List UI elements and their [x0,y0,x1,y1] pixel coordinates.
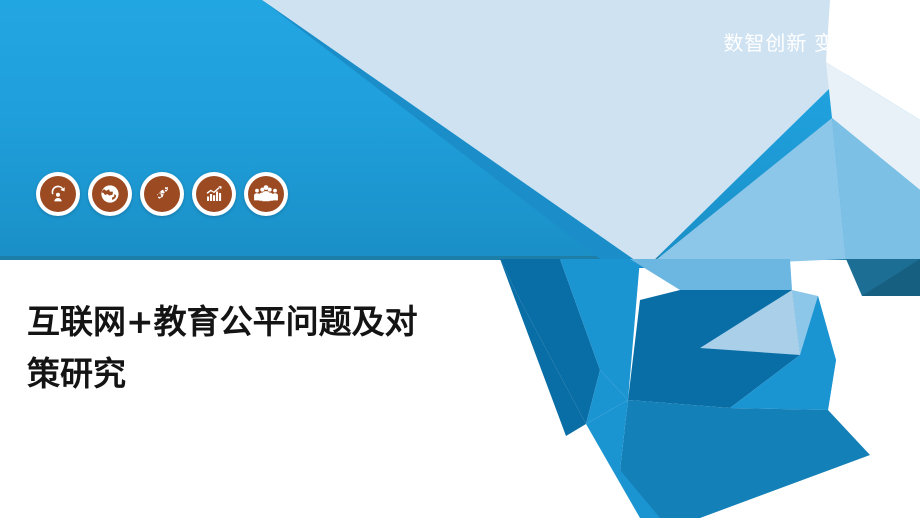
polygon-bottom-blade [620,400,870,518]
icon-badge-people-group[interactable] [244,172,288,216]
icon-badge-gears[interactable] [140,172,184,216]
bar-chart-icon [196,176,232,212]
people-group-icon [248,176,284,212]
polygon-artwork [0,0,920,518]
icon-row [36,172,288,216]
icon-badge-refresh-person[interactable] [36,172,80,216]
globe-icon [92,176,128,212]
polygon-lower-mid-top [630,259,792,290]
refresh-person-icon [40,176,76,212]
page-title-line-1: 互联网+教育公平问题及对 [27,296,527,348]
tagline-text: 数智创新 变革未来 [723,27,898,56]
slide-canvas: 数智创新 变革未来 [0,0,920,518]
icon-badge-bar-chart[interactable] [192,172,236,216]
page-title-line-2: 策研究 [27,348,527,400]
icon-badge-globe[interactable] [88,172,132,216]
page-title: 互联网+教育公平问题及对 策研究 [27,296,527,400]
gears-icon [144,176,180,212]
